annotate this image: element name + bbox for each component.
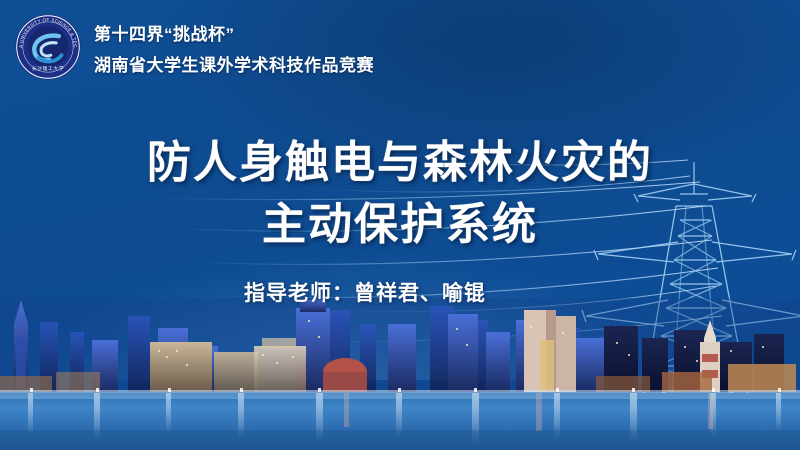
title-line-2: 主动保护系统	[0, 194, 800, 256]
competition-header: CHANGSHA UNIVERSITY OF SCIENCE & TECHNOL…	[14, 13, 374, 81]
competition-name-label: 湖南省大学生课外学术科技作品竞赛	[94, 51, 374, 76]
river-water-reflection	[0, 393, 800, 450]
page-title: 防人身触电与森林火灾的 主动保护系统	[0, 132, 800, 256]
title-line-1: 防人身触电与森林火灾的	[0, 132, 800, 194]
presentation-title-slide: CHANGSHA UNIVERSITY OF SCIENCE & TECHNOL…	[0, 0, 800, 450]
changsha-university-of-science-and-technology-emblem: CHANGSHA UNIVERSITY OF SCIENCE & TECHNOL…	[14, 13, 82, 81]
competition-edition-label: 第十四界“挑战杯”	[94, 20, 374, 45]
advisor-credit: 指导老师：曾祥君、喻锟	[0, 277, 800, 307]
advisor-credit-label: 指导老师：曾祥君、喻锟	[244, 282, 486, 305]
